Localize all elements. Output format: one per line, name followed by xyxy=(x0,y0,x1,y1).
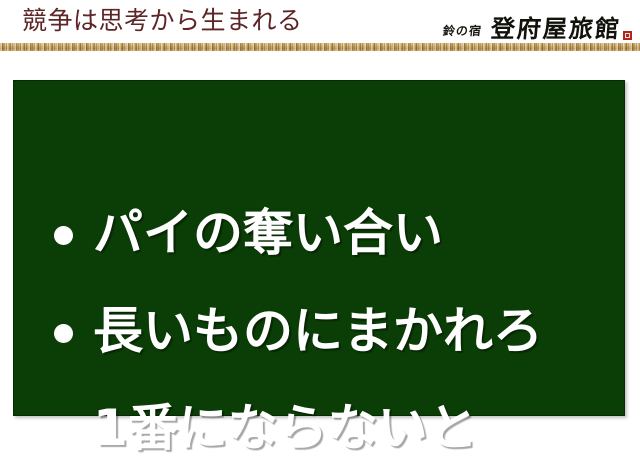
brand-logo: 鈴の宿 登府屋旅館 xyxy=(443,10,632,42)
gold-divider-band xyxy=(0,43,640,51)
bullet-point-icon xyxy=(54,324,73,343)
bullet-list: パイの奪い合い 長いものにまかれろ 1番にならないと xyxy=(14,81,624,415)
slide-content-panel: パイの奪い合い 長いものにまかれろ 1番にならないと xyxy=(13,80,625,416)
list-item: 1番にならないと xyxy=(54,394,478,462)
bullet-item-label: 長いものにまかれろ xyxy=(93,297,543,365)
logo-sub-text: 鈴の宿 xyxy=(442,22,483,39)
list-item: 長いものにまかれろ xyxy=(54,297,543,365)
bullet-item-label: パイの奪い合い xyxy=(93,199,443,267)
page-title: 競争は思考から生まれる xyxy=(22,4,303,38)
red-seal-stamp-icon xyxy=(623,31,632,40)
slide-header: 競争は思考から生まれる 鈴の宿 登府屋旅館 xyxy=(0,0,640,42)
bullet-item-label: 1番にならないと xyxy=(93,394,478,462)
logo-main-text: 登府屋旅館 xyxy=(490,16,622,42)
bullet-point-icon xyxy=(54,421,73,440)
list-item: パイの奪い合い xyxy=(54,199,443,267)
bullet-point-icon xyxy=(54,226,73,245)
